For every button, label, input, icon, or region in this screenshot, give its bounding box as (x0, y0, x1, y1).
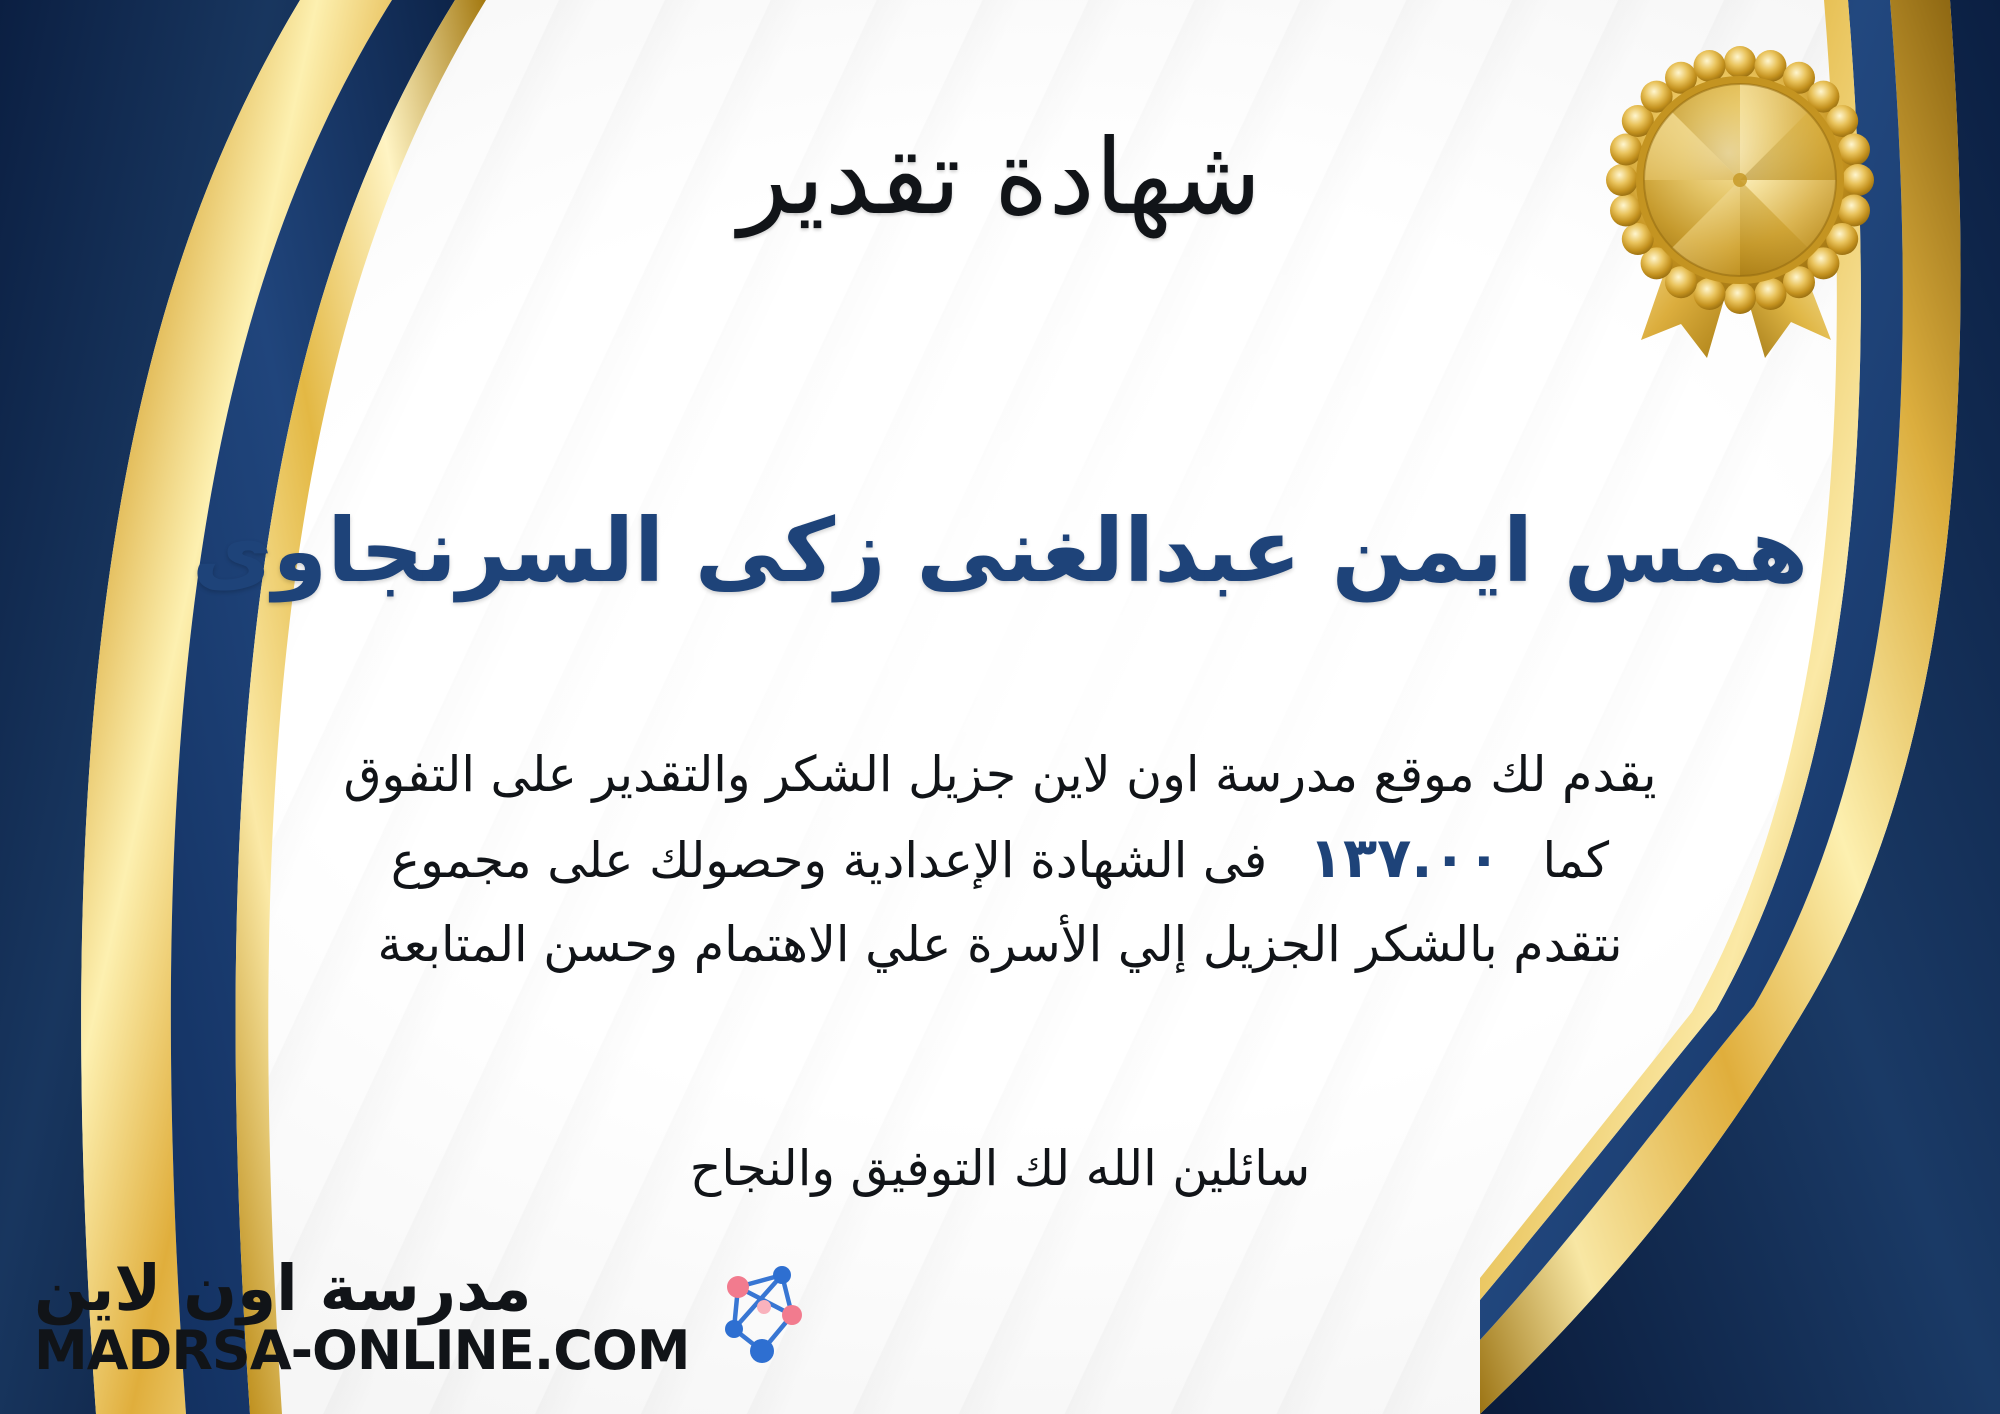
network-nodes-icon (704, 1257, 814, 1377)
brand-text: مدرسة اون لاين MADRSA-ONLINE.COM (34, 1257, 690, 1378)
body-line-1: يقدم لك موقع مدرسة اون لاين جزيل الشكر و… (120, 735, 1880, 814)
page-title: شهادة تقدير (0, 120, 2000, 234)
brand-logo[interactable]: مدرسة اون لاين MADRSA-ONLINE.COM (34, 1242, 594, 1392)
certificate-body: يقدم لك موقع مدرسة اون لاين جزيل الشكر و… (120, 735, 1880, 984)
body-line-2: كما ١٣٧.٠٠ فى الشهادة الإعدادية وحصولك ع… (120, 814, 1880, 905)
brand-name-english: MADRSA-ONLINE.COM (34, 1324, 690, 1378)
brand-name-arabic: مدرسة اون لاين (34, 1257, 531, 1320)
certificate-content: شهادة تقدير همس ايمن عبدالغنى زكى السرنج… (0, 0, 2000, 1414)
recipient-name: همس ايمن عبدالغنى زكى السرنجاوى (0, 500, 2000, 601)
certificate-page: شهادة تقدير همس ايمن عبدالغنى زكى السرنج… (0, 0, 2000, 1414)
score-value: ١٣٧.٠٠ (1283, 826, 1527, 891)
body-line-2-prefix: فى الشهادة الإعدادية وحصولك على مجموع (391, 832, 1267, 889)
body-line-2-suffix: كما (1543, 832, 1610, 889)
closing-line: سائلين الله لك التوفيق والنجاح (0, 1140, 2000, 1197)
body-line-3: نتقدم بالشكر الجزيل إلي الأسرة علي الاهت… (120, 905, 1880, 984)
